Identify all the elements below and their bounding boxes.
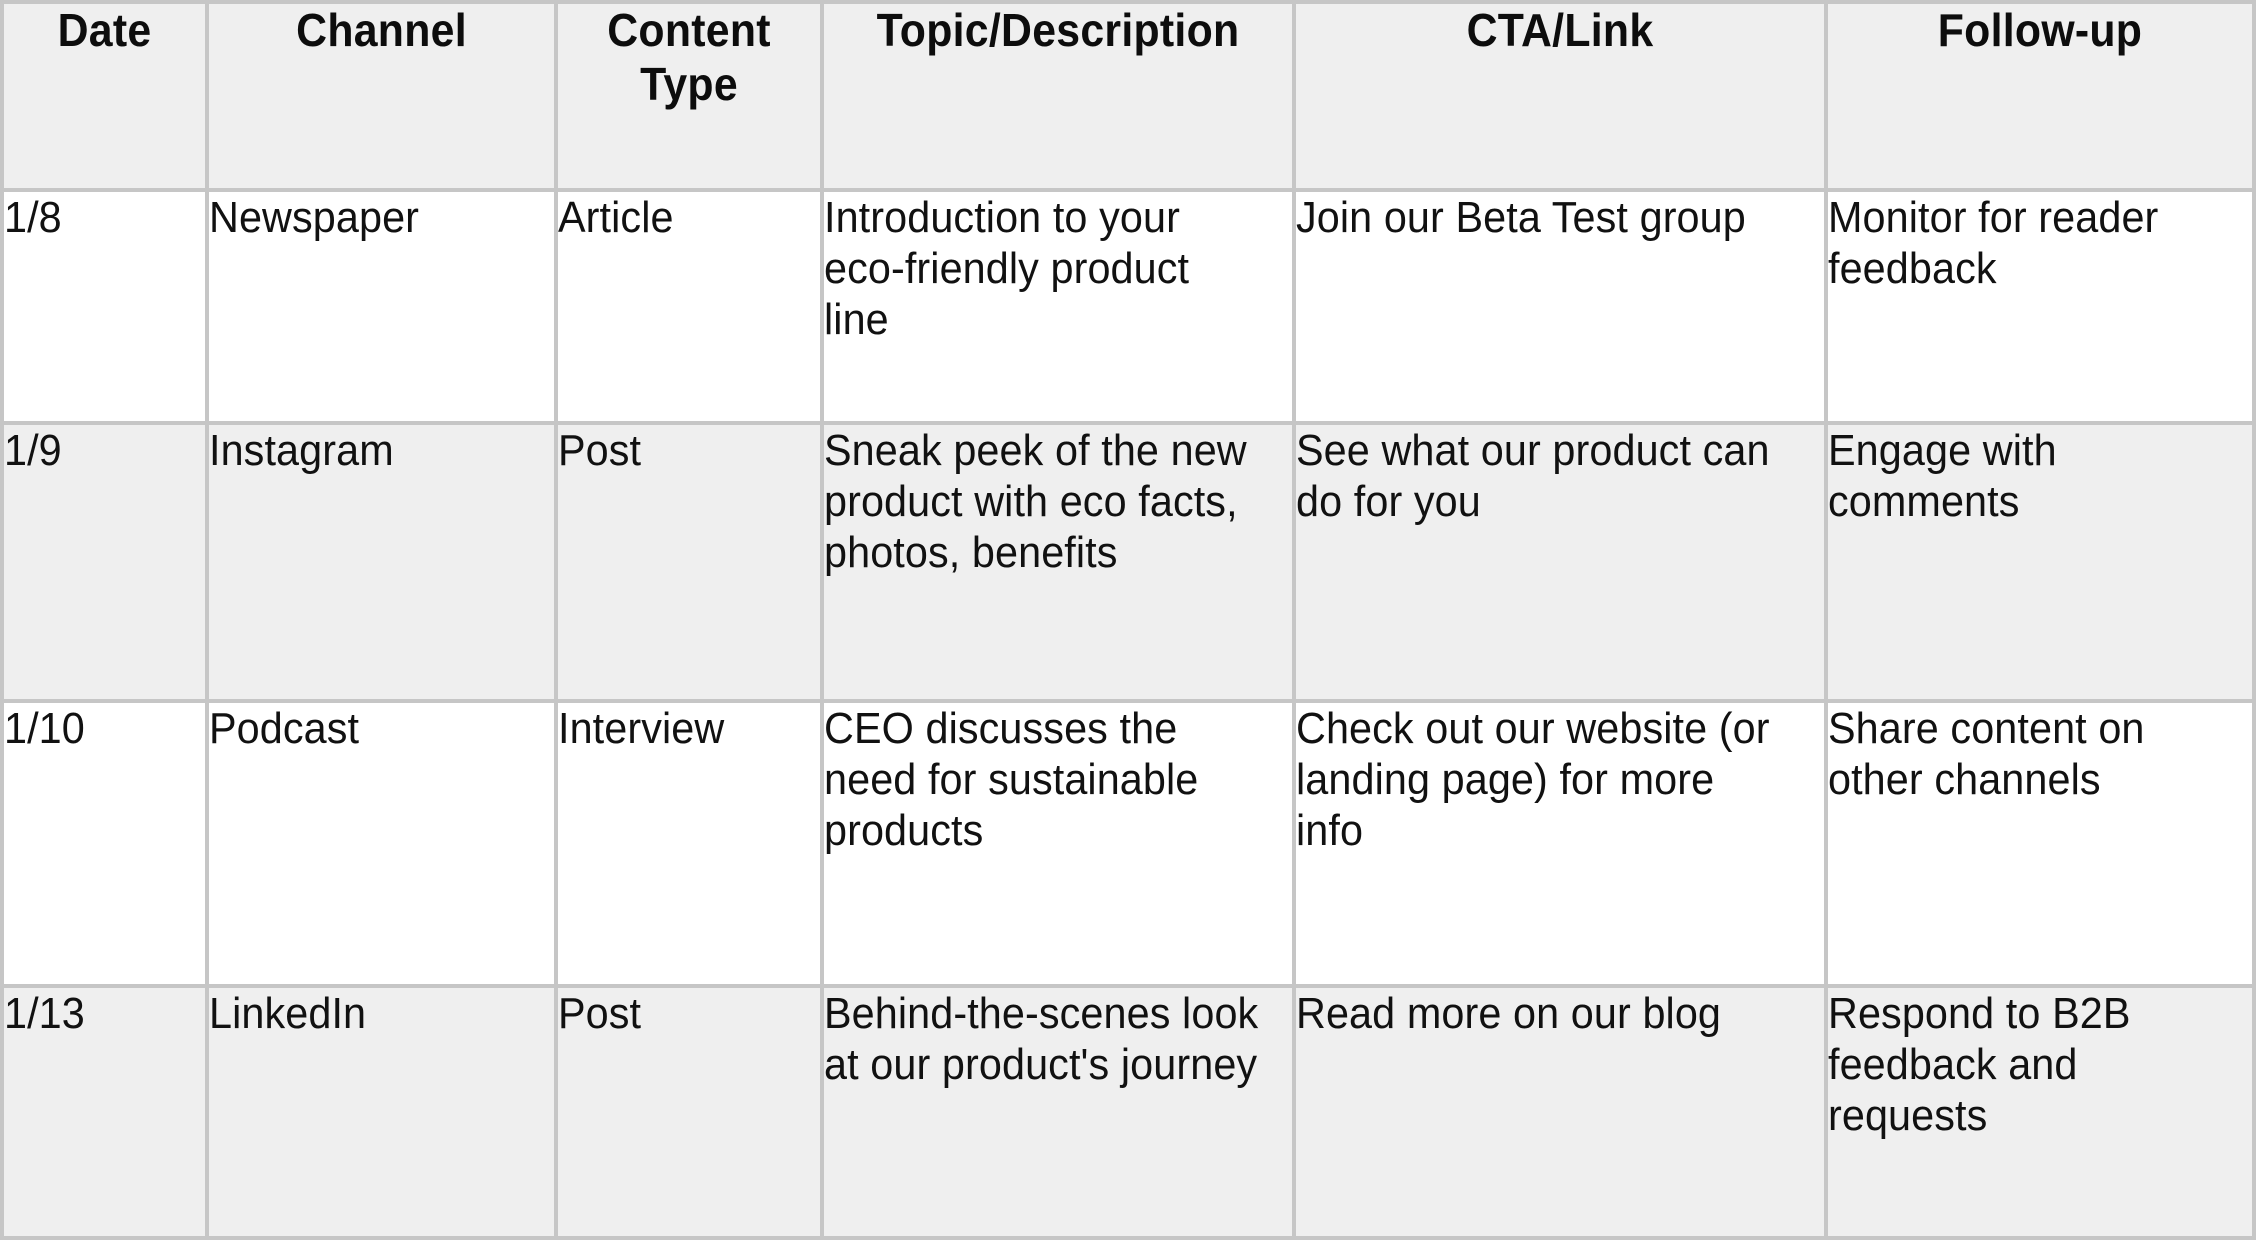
- cell-topic: CEO discusses the need for sustainable p…: [822, 701, 1294, 986]
- column-header-content-type-label: Content Type: [567, 4, 811, 112]
- cell-topic: Introduction to your eco-friendly produc…: [822, 190, 1294, 423]
- cell-follow-up-text: Respond to B2B feedback and requests: [1828, 988, 2227, 1141]
- cell-channel: Instagram: [207, 423, 556, 701]
- table-row[interactable]: 1/9 Instagram Post Sneak peek of the new…: [2, 423, 2254, 701]
- column-header-channel-label: Channel: [221, 4, 542, 58]
- column-header-date[interactable]: Date: [2, 2, 207, 190]
- cell-follow-up-text: Share content on other channels: [1828, 703, 2227, 805]
- column-header-follow-up-label: Follow-up: [1843, 4, 2237, 58]
- cell-follow-up: Respond to B2B feedback and requests: [1826, 986, 2254, 1238]
- table-header: Date Channel Content Type Topic/Descript…: [2, 2, 2254, 190]
- cell-follow-up: Engage with comments: [1826, 423, 2254, 701]
- cell-cta-text: Join our Beta Test group: [1296, 192, 1792, 243]
- cell-follow-up: Share content on other channels: [1826, 701, 2254, 986]
- cell-cta: See what our product can do for you: [1294, 423, 1826, 701]
- column-header-cta-link[interactable]: CTA/Link: [1294, 2, 1826, 190]
- column-header-topic-description[interactable]: Topic/Description: [822, 2, 1294, 190]
- cell-cta-text: Check out our website (or landing page) …: [1296, 703, 1792, 856]
- cell-channel-text: Newspaper: [209, 192, 533, 243]
- cell-topic-text: Behind-the-scenes look at our product's …: [824, 988, 1264, 1090]
- cell-date: 1/10: [2, 701, 207, 986]
- column-header-channel[interactable]: Channel: [207, 2, 556, 190]
- cell-topic: Sneak peek of the new product with eco f…: [822, 423, 1294, 701]
- cell-follow-up-text: Engage with comments: [1828, 425, 2227, 527]
- cell-content-type-text: Interview: [558, 703, 804, 754]
- cell-date-text: 1/10: [4, 703, 193, 754]
- header-row: Date Channel Content Type Topic/Descript…: [2, 2, 2254, 190]
- column-header-follow-up[interactable]: Follow-up: [1826, 2, 2254, 190]
- cell-content-type: Article: [556, 190, 822, 423]
- cell-content-type-text: Article: [558, 192, 804, 243]
- cell-cta-text: See what our product can do for you: [1296, 425, 1792, 527]
- cell-channel: Podcast: [207, 701, 556, 986]
- cell-content-type-text: Post: [558, 425, 804, 476]
- table-row[interactable]: 1/10 Podcast Interview CEO discusses the…: [2, 701, 2254, 986]
- cell-channel-text: LinkedIn: [209, 988, 533, 1039]
- cell-content-type-text: Post: [558, 988, 804, 1039]
- cell-date-text: 1/9: [4, 425, 193, 476]
- cell-date-text: 1/13: [4, 988, 193, 1039]
- cell-channel-text: Instagram: [209, 425, 533, 476]
- cell-follow-up-text: Monitor for reader feedback: [1828, 192, 2227, 294]
- cell-cta-text: Read more on our blog: [1296, 988, 1792, 1039]
- cell-channel-text: Podcast: [209, 703, 533, 754]
- cell-topic-text: CEO discusses the need for sustainable p…: [824, 703, 1264, 856]
- cell-date: 1/8: [2, 190, 207, 423]
- column-header-content-type[interactable]: Content Type: [556, 2, 822, 190]
- cell-topic-text: Introduction to your eco-friendly produc…: [824, 192, 1264, 345]
- column-header-cta-link-label: CTA/Link: [1314, 4, 1805, 58]
- column-header-topic-description-label: Topic/Description: [840, 4, 1275, 58]
- cell-date-text: 1/8: [4, 192, 193, 243]
- cell-follow-up: Monitor for reader feedback: [1826, 190, 2254, 423]
- column-header-date-label: Date: [11, 4, 198, 58]
- cell-cta: Read more on our blog: [1294, 986, 1826, 1238]
- cell-date: 1/9: [2, 423, 207, 701]
- table-row[interactable]: 1/8 Newspaper Article Introduction to yo…: [2, 190, 2254, 423]
- cell-channel: LinkedIn: [207, 986, 556, 1238]
- cell-topic: Behind-the-scenes look at our product's …: [822, 986, 1294, 1238]
- cell-content-type: Interview: [556, 701, 822, 986]
- cell-cta: Check out our website (or landing page) …: [1294, 701, 1826, 986]
- cell-channel: Newspaper: [207, 190, 556, 423]
- cell-cta: Join our Beta Test group: [1294, 190, 1826, 423]
- table-body: 1/8 Newspaper Article Introduction to yo…: [2, 190, 2254, 1238]
- table-row[interactable]: 1/13 LinkedIn Post Behind-the-scenes loo…: [2, 986, 2254, 1238]
- content-calendar-table: Date Channel Content Type Topic/Descript…: [0, 0, 2256, 1240]
- cell-content-type: Post: [556, 423, 822, 701]
- cell-content-type: Post: [556, 986, 822, 1238]
- cell-date: 1/13: [2, 986, 207, 1238]
- cell-topic-text: Sneak peek of the new product with eco f…: [824, 425, 1264, 578]
